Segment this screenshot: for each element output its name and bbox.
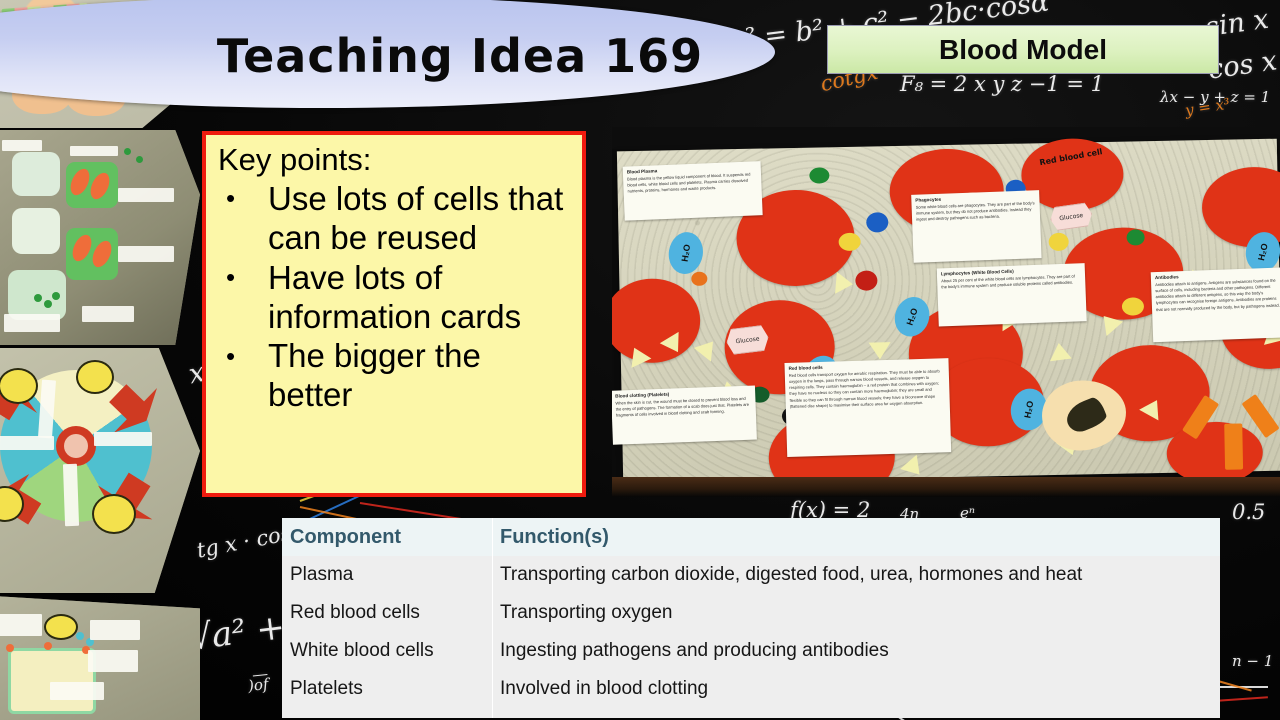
molecule-dot-blue (866, 212, 888, 232)
table-cell-function: Transporting carbon dioxide, digested fo… (492, 564, 1220, 586)
key-point-item-1: • Use lots of cells that can be reused (216, 180, 572, 258)
key-point-item-2: • Have lots of information cards (216, 259, 572, 337)
info-card-body: Blood plasma is the yellow liquid compon… (627, 171, 758, 195)
antibody-y-shape (1190, 389, 1275, 467)
info-card-body: Some white blood cells are phagocytes. T… (916, 200, 1037, 223)
info-card-body: Red blood cells transport oxygen for aer… (789, 368, 946, 410)
equation-nminus1: n − 1 (1232, 652, 1273, 670)
table-cell-component: Red blood cells (282, 602, 492, 624)
photo-bottom-edge (612, 477, 1280, 497)
molecule-dot-yellow (838, 233, 860, 251)
bullet-glyph: • (226, 338, 235, 375)
platelet (869, 342, 891, 359)
topic-badge: Blood Model (827, 25, 1219, 74)
photo-tile-phloem-model[interactable] (0, 130, 200, 345)
topic-label: Blood Model (939, 34, 1107, 66)
table-cell-function: Transporting oxygen (492, 602, 1220, 624)
bullet-glyph: • (226, 259, 235, 296)
blood-components-table: Component Function(s) Plasma Transportin… (282, 518, 1220, 718)
handwritten-rbc-label: Red blood cell (1039, 147, 1103, 167)
table-header-component: Component (282, 526, 492, 549)
glucose-molecule: Glucose (725, 324, 770, 355)
info-card-antibodies: Antibodies Antibodies attach to antigens… (1151, 267, 1280, 342)
platelet (694, 335, 722, 362)
molecule-dot-red (855, 270, 877, 290)
info-card-body: Antibodies attach to antigens. Antigens … (1155, 277, 1280, 312)
info-card-body: When the skin is cut, the wound must be … (615, 396, 752, 420)
key-points-heading: Key points: (218, 143, 572, 178)
key-point-item-3: • The bigger the better (216, 337, 572, 415)
info-card-phagocytes: Phagocytes Some white blood cells are ph… (911, 190, 1041, 263)
key-points-list: • Use lots of cells that can be reused •… (216, 180, 572, 416)
table-header-row: Component Function(s) (282, 518, 1220, 556)
photo-tile-cell-cycle-wheel[interactable] (0, 348, 200, 593)
water-molecule: H₂O (666, 230, 706, 277)
table-row: Red blood cells Transporting oxygen (282, 594, 1220, 632)
table-cell-function: Ingesting pathogens and producing antibo… (492, 640, 1220, 662)
slide-canvas: a² = b² + c² − 2bc·cosα F₈ = 2 x y z −1 … (0, 0, 1280, 720)
info-card-blood-clotting: Blood clotting (Platelets) When the skin… (612, 386, 757, 445)
table-column-divider (492, 518, 493, 718)
key-points-box: Key points: • Use lots of cells that can… (202, 131, 586, 497)
table-cell-component: Plasma (282, 564, 492, 586)
table-cell-component: Platelets (282, 678, 492, 700)
blood-model-photo[interactable]: Red blood cell H₂O H₂O H₂O H₂O H₂O H₂O (612, 127, 1280, 497)
key-point-text-1: Use lots of cells that can be reused (268, 180, 563, 256)
info-card-lymphocytes: Lymphocytes (White Blood Cells) About 25… (937, 263, 1087, 326)
equation-half: 0.5 (1232, 500, 1265, 524)
platelet (835, 272, 854, 295)
display-board: Red blood cell H₂O H₂O H₂O H₂O H₂O H₂O (617, 139, 1280, 484)
lymphocyte-cell (1041, 380, 1126, 452)
equation-f8: F₈ = 2 x y z −1 = 1 (900, 72, 1104, 96)
equation-fraction-a: )of (247, 675, 269, 695)
info-card-red-blood-cells: Red blood cells Red blood cells transpor… (784, 358, 951, 457)
key-point-text-3: The bigger the better (268, 337, 481, 413)
table-row: Plasma Transporting carbon dioxide, dige… (282, 556, 1220, 594)
classroom-display-photo-strip (0, 0, 200, 720)
bullet-glyph: • (226, 180, 235, 217)
table-cell-component: White blood cells (282, 640, 492, 662)
table-header-functions: Function(s) (492, 526, 1220, 549)
molecule-dot-yellow (1049, 233, 1069, 251)
key-point-text-2: Have lots of information cards (268, 259, 521, 335)
molecule-dot-green (809, 167, 829, 183)
page-title: Teaching Idea 169 (200, 20, 720, 92)
table-cell-function: Involved in blood clotting (492, 678, 1220, 700)
photo-tile-membrane-model[interactable] (0, 596, 200, 720)
chalk-stroke-red-3 (1214, 696, 1268, 702)
table-row: White blood cells Ingesting pathogens an… (282, 632, 1220, 670)
molecule-dot-orange (691, 272, 707, 286)
table-row: Platelets Involved in blood clotting (282, 670, 1220, 708)
platelet (1048, 342, 1072, 362)
info-card-blood-plasma: Blood Plasma Blood plasma is the yellow … (623, 161, 763, 220)
